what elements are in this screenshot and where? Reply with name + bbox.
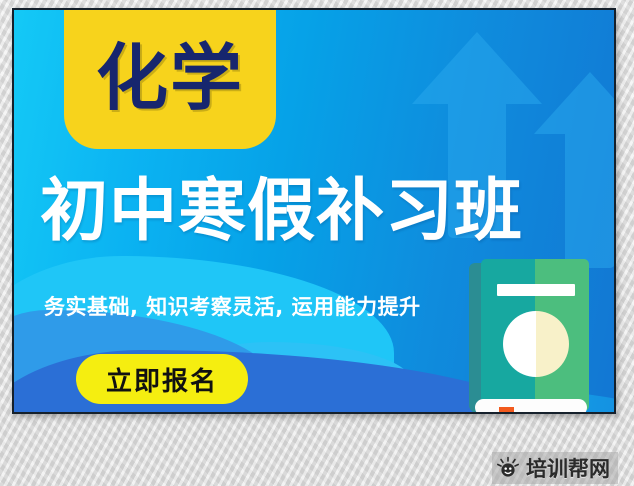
arrow-up-icon-secondary: [534, 72, 616, 262]
bookmark-icon: [499, 407, 514, 414]
book-circle-emblem: [503, 311, 569, 377]
enroll-now-button[interactable]: 立即报名: [76, 354, 248, 404]
poster-subtitle: 务实基础, 知识考察灵活, 运用能力提升: [44, 291, 421, 321]
book-title-band: [497, 284, 575, 296]
book-cover: [481, 259, 589, 411]
book-pages: [475, 399, 587, 414]
sun-face-icon: [496, 456, 520, 480]
subject-badge: 化学: [64, 8, 276, 149]
arrow-shaft: [565, 128, 615, 268]
subject-badge-label: 化学: [96, 42, 244, 114]
course-promo-poster: 化学 初中寒假补习班 务实基础, 知识考察灵活, 运用能力提升 立即报名: [12, 8, 616, 414]
site-watermark: 培训帮网: [492, 452, 618, 484]
arrow-head: [412, 32, 542, 104]
site-watermark-label: 培训帮网: [526, 453, 610, 483]
page-title: 初中寒假补习班: [40, 178, 523, 246]
enroll-now-label: 立即报名: [106, 361, 218, 398]
arrow-head: [534, 72, 616, 134]
book-icon: [469, 259, 589, 414]
